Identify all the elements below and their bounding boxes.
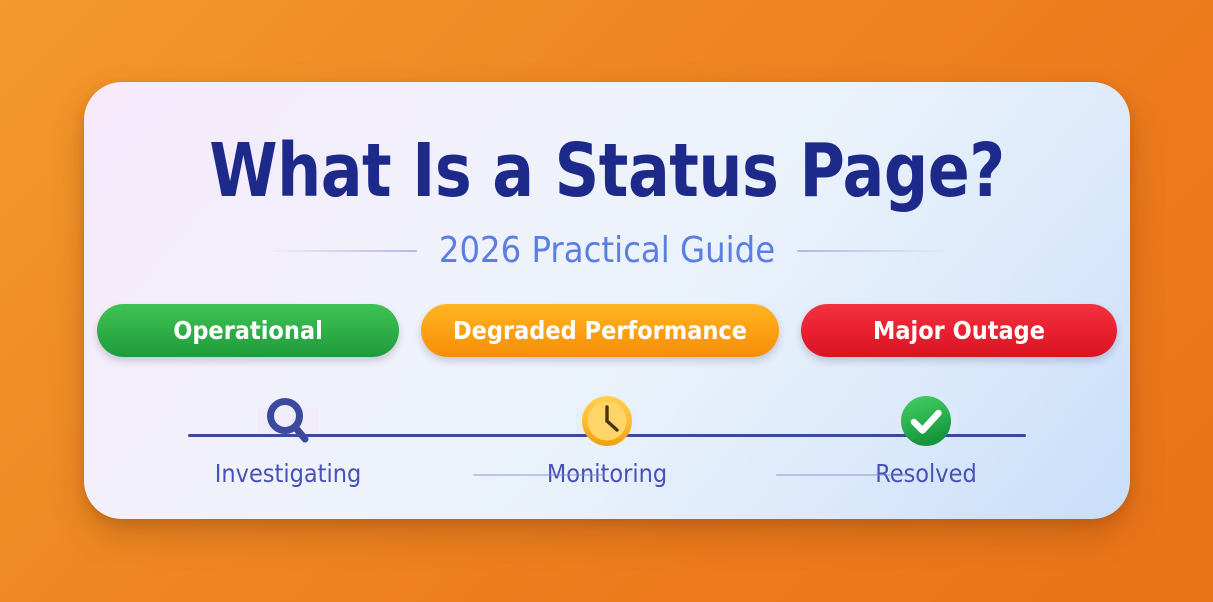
clock-icon bbox=[576, 390, 638, 452]
status-badge-operational[interactable]: Operational bbox=[97, 304, 399, 357]
status-badge-major-outage[interactable]: Major Outage bbox=[801, 304, 1117, 357]
poster-canvas: What Is a Status Page? 2026 Practical Gu… bbox=[0, 0, 1213, 602]
magnifier-icon bbox=[257, 390, 319, 452]
subtitle-row: 2026 Practical Guide bbox=[84, 230, 1130, 272]
page-title: What Is a Status Page? bbox=[121, 134, 1094, 208]
subtitle-rule-right bbox=[797, 250, 947, 252]
timeline-step-investigating[interactable]: Investigating bbox=[188, 390, 388, 486]
status-badge-group: Operational Degraded Performance Major O… bbox=[84, 304, 1130, 357]
timeline-step-monitoring[interactable]: Monitoring bbox=[507, 390, 707, 486]
timeline-step-label: Investigating bbox=[215, 461, 361, 486]
timeline-label-connector bbox=[776, 474, 908, 476]
page-subtitle: 2026 Practical Guide bbox=[439, 233, 775, 269]
status-badge-degraded-performance[interactable]: Degraded Performance bbox=[421, 304, 779, 357]
status-page-card: What Is a Status Page? 2026 Practical Gu… bbox=[84, 82, 1130, 519]
timeline-step-resolved[interactable]: Resolved bbox=[826, 390, 1026, 486]
timeline-steps: Investigating bbox=[188, 390, 1026, 486]
timeline-label-connector bbox=[473, 474, 605, 476]
check-circle-icon bbox=[895, 390, 957, 452]
incident-timeline: Investigating bbox=[188, 390, 1026, 490]
subtitle-rule-left bbox=[267, 250, 417, 252]
